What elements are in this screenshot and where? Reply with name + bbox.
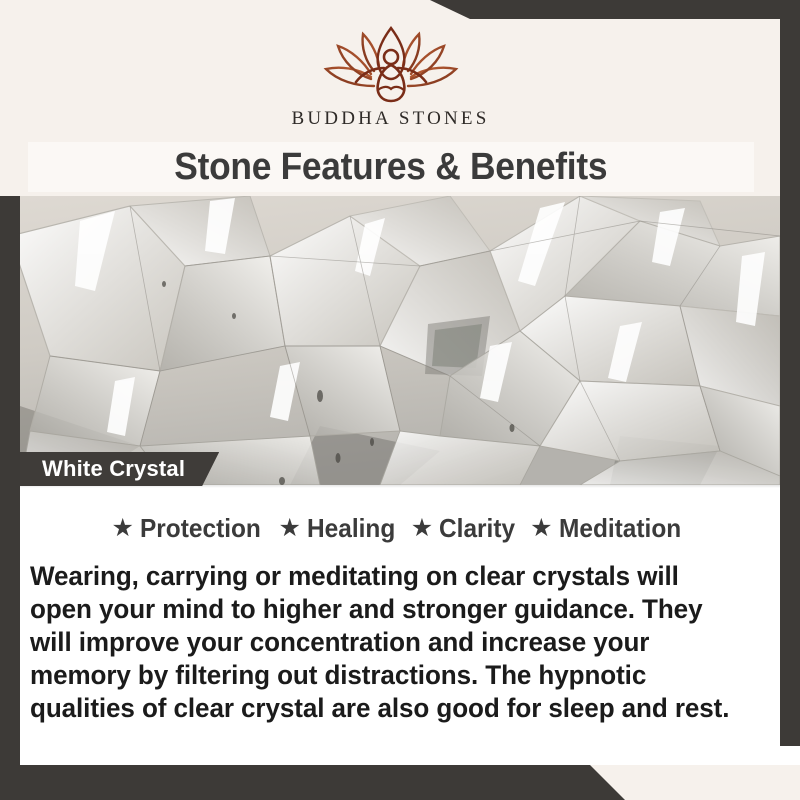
benefit-label: Protection xyxy=(140,513,261,544)
benefit-label: Healing xyxy=(307,513,395,544)
right-frame-bar xyxy=(780,0,800,746)
list-item: ★ Clarity xyxy=(411,513,520,544)
status-badge: White Crystal xyxy=(20,452,219,486)
list-item: ★ Healing xyxy=(278,513,400,544)
title-band: Stone Features & Benefits xyxy=(28,142,754,192)
top-left-wedge-decoration xyxy=(0,0,470,19)
list-item: ★ Meditation xyxy=(530,513,688,544)
benefit-label: Clarity xyxy=(439,513,515,544)
benefits-list: ★ Protection ★ Healing ★ Clarity ★ Medit… xyxy=(20,513,780,544)
star-icon: ★ xyxy=(411,516,433,541)
description-text: Wearing, carrying or meditating on clear… xyxy=(30,560,734,725)
star-icon: ★ xyxy=(530,516,552,541)
star-icon: ★ xyxy=(111,516,133,541)
brand-logo-block: BUDDHA STONES xyxy=(0,24,781,130)
poster-root: BUDDHA STONES Stone Features & Benefits xyxy=(0,0,800,800)
crystal-illustration xyxy=(20,196,780,485)
white-crystal-cluster-photo xyxy=(20,196,780,485)
list-item: ★ Protection xyxy=(111,513,268,544)
lotus-meditation-icon xyxy=(316,24,466,106)
stone-name-label: White Crystal xyxy=(42,456,185,482)
brand-name: BUDDHA STONES xyxy=(291,108,489,130)
benefit-label: Meditation xyxy=(559,513,681,544)
star-icon: ★ xyxy=(278,516,300,541)
left-frame-bar xyxy=(0,196,20,765)
page-title: Stone Features & Benefits xyxy=(175,146,608,189)
